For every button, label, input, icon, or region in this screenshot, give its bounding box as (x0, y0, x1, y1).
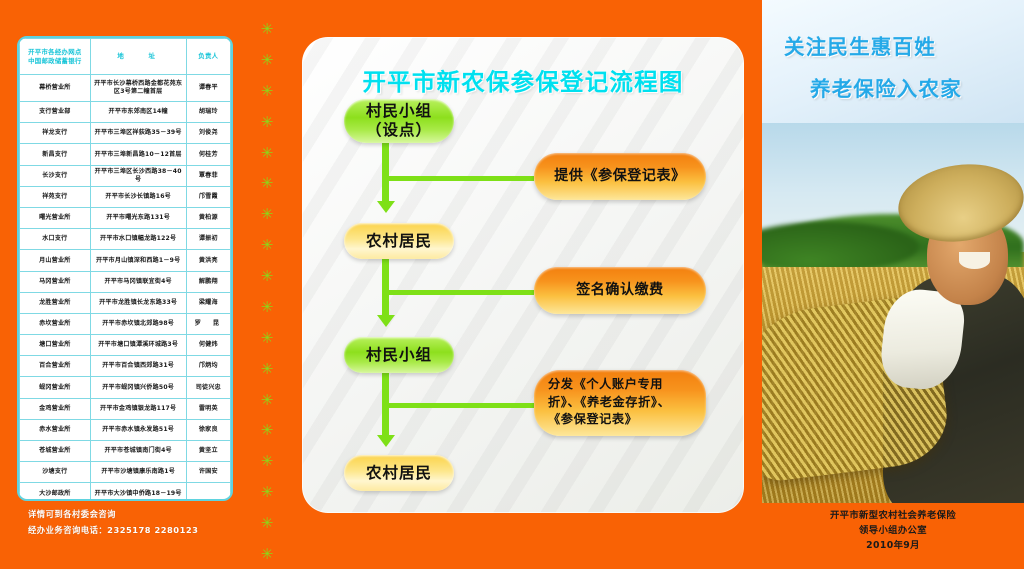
table-row: 水口支行开平市水口镇幅龙路122号谭振初 (20, 229, 231, 250)
right-footer-line3: 2010年9月 (762, 538, 1024, 553)
asterisk-icon: ✳ (261, 269, 274, 284)
table-row: 祥苑支行开平市长沙长镇路16号邝雪霞 (20, 186, 231, 207)
cell-address: 开平市大沙镇中侨路18－19号 (90, 483, 186, 501)
cell-person: 谭春平 (186, 75, 230, 102)
cell-address: 开平市蚬冈镇兴侨路50号 (90, 377, 186, 398)
table-row: 幕桥营业所开平市长沙幕桥西路金都花苑东区3号第二幢首层谭春平 (20, 75, 231, 102)
cell-person: 司徒兴忠 (186, 377, 230, 398)
headline-line1: 关注民生惠百姓 (784, 30, 936, 60)
cell-address: 开平市长沙幕桥西路金都花苑东区3号第二幢首层 (90, 75, 186, 102)
flow-node-rural-residents-2[interactable]: 农村居民 (344, 455, 454, 491)
col-header-branch-line2: 中国邮政储蓄银行 (21, 57, 89, 65)
cell-branch: 曙光营业所 (20, 207, 91, 228)
left-footer-line1: 详情可到各村委会咨询 (28, 506, 198, 522)
asterisk-divider: ✳✳✳✳✳✳✳✳✳✳✳✳✳✳✳✳✳✳ (252, 22, 282, 562)
cell-person: 罗 昆 (186, 313, 230, 334)
cell-branch: 祥苑支行 (20, 186, 91, 207)
table-row: 曙光营业所开平市曙光东路131号黄柏源 (20, 207, 231, 228)
asterisk-icon: ✳ (261, 331, 274, 346)
left-footer: 详情可到各村委会咨询 经办业务咨询电话：2325178 2280123 (28, 506, 198, 538)
flow-callout-3-line2: 折》、《养老金存折》、 (548, 394, 692, 412)
cell-address: 开平市马冈镇联宜街4号 (90, 271, 186, 292)
cell-branch: 沙塘支行 (20, 462, 91, 483)
table-row: 百合营业所开平市百合镇西郊路31号邝炳均 (20, 356, 231, 377)
cell-person: 何桂芳 (186, 144, 230, 165)
cell-address: 开平市三埠区长沙西路38－40号 (90, 165, 186, 186)
cell-person: 刘俊尧 (186, 123, 230, 144)
cell-person: 梁耀海 (186, 292, 230, 313)
asterisk-icon: ✳ (261, 146, 274, 161)
cell-person: 黄洪亮 (186, 250, 230, 271)
cell-address: 开平市三埠新昌路10－12首层 (90, 144, 186, 165)
cell-person: 何健炜 (186, 335, 230, 356)
cell-branch: 金鸡营业所 (20, 398, 91, 419)
cell-branch: 百合营业所 (20, 356, 91, 377)
asterisk-icon: ✳ (261, 362, 274, 377)
flow-node-2-label: 农村居民 (366, 232, 432, 251)
cell-branch: 赤坎营业所 (20, 313, 91, 334)
right-footer: 开平市新型农村社会养老保险 领导小组办公室 2010年9月 (762, 508, 1024, 553)
cell-branch: 祥龙支行 (20, 123, 91, 144)
left-panel: 开平市各经办网点 中国邮政储蓄银行 地 址 负责人 幕桥营业所开平市长沙幕桥西路… (0, 0, 252, 569)
cell-branch: 蚬冈营业所 (20, 377, 91, 398)
table-row: 塘口营业所开平市塘口镇潭溪环城路3号何健炜 (20, 335, 231, 356)
branch-table-body: 幕桥营业所开平市长沙幕桥西路金都花苑东区3号第二幢首层谭春平支行营业部开平市东郊… (20, 75, 231, 502)
asterisk-icon: ✳ (261, 207, 274, 222)
cell-branch: 赤水营业所 (20, 419, 91, 440)
asterisk-icon: ✳ (261, 115, 274, 130)
flow-callout-3-line3: 《参保登记表》 (548, 411, 692, 429)
table-row: 新昌支行开平市三埠新昌路10－12首层何桂芳 (20, 144, 231, 165)
col-header-person: 负责人 (186, 39, 230, 75)
connector-n3-n4-arrow (377, 435, 395, 447)
asterisk-icon: ✳ (261, 176, 274, 191)
flow-node-village-group-setpoint[interactable]: 村民小组 （设点） (344, 99, 454, 143)
cell-address: 开平市塘口镇潭溪环城路3号 (90, 335, 186, 356)
cell-person: 胡瑞玲 (186, 102, 230, 123)
poster-canvas: 开平市各经办网点 中国邮政储蓄银行 地 址 负责人 幕桥营业所开平市长沙幕桥西路… (0, 0, 1024, 569)
table-row: 龙胜营业所开平市龙胜镇长龙东路33号梁耀海 (20, 292, 231, 313)
cell-person: 徐家良 (186, 419, 230, 440)
branch-table: 开平市各经办网点 中国邮政储蓄银行 地 址 负责人 幕桥营业所开平市长沙幕桥西路… (19, 38, 231, 501)
table-row: 赤水营业所开平市赤水镇永发路51号徐家良 (20, 419, 231, 440)
flow-callout-sign-confirm-payment[interactable]: 签名确认缴费 (534, 267, 706, 314)
flow-node-4-label: 农村居民 (366, 464, 432, 483)
right-panel: 关注民生惠百姓 养老保险入农家 开平市新型农村社会养老保险 领导小组办公室 20… (762, 0, 1024, 569)
asterisk-icon: ✳ (261, 393, 274, 408)
col-header-address: 地 址 (90, 39, 186, 75)
cell-branch: 长沙支行 (20, 165, 91, 186)
connector-c1-branch (386, 176, 534, 181)
branch-table-card: 开平市各经办网点 中国邮政储蓄银行 地 址 负责人 幕桥营业所开平市长沙幕桥西路… (17, 36, 233, 501)
table-row: 大沙邮政所开平市大沙镇中侨路18－19号 (20, 483, 231, 501)
cell-branch: 苍城营业所 (20, 441, 91, 462)
cell-person: 许国安 (186, 462, 230, 483)
asterisk-icon: ✳ (261, 485, 274, 500)
connector-n3-n4-line (382, 363, 389, 437)
cell-branch: 龙胜营业所 (20, 292, 91, 313)
cell-person: 解鹏翔 (186, 271, 230, 292)
cell-person (186, 483, 230, 501)
asterisk-icon: ✳ (261, 238, 274, 253)
connector-c3-branch (386, 403, 534, 408)
asterisk-icon: ✳ (261, 22, 274, 37)
asterisk-icon: ✳ (261, 454, 274, 469)
cell-address: 开平市水口镇幅龙路122号 (90, 229, 186, 250)
cell-person: 黄坚立 (186, 441, 230, 462)
cell-address: 开平市赤水镇永发路51号 (90, 419, 186, 440)
cell-person: 邝雪霞 (186, 186, 230, 207)
flow-node-3-label: 村民小组 (366, 346, 432, 365)
cell-address: 开平市龙胜镇长龙东路33号 (90, 292, 186, 313)
cell-address: 开平市长沙长镇路16号 (90, 186, 186, 207)
col-header-branch-line1: 开平市各经办网点 (21, 48, 89, 56)
cell-address: 开平市金鸡镇银龙路117号 (90, 398, 186, 419)
cell-branch: 幕桥营业所 (20, 75, 91, 102)
cell-address: 开平市百合镇西郊路31号 (90, 356, 186, 377)
right-footer-line1: 开平市新型农村社会养老保险 (762, 508, 1024, 523)
asterisk-icon: ✳ (261, 423, 274, 438)
cell-address: 开平市赤坎镇北郊路98号 (90, 313, 186, 334)
flow-node-village-group-2[interactable]: 村民小组 (344, 337, 454, 373)
right-footer-line2: 领导小组办公室 (762, 523, 1024, 538)
connector-c2-branch (386, 290, 534, 295)
cell-branch: 塘口营业所 (20, 335, 91, 356)
connector-n1-n2-arrow (377, 201, 395, 213)
cell-branch: 月山营业所 (20, 250, 91, 271)
flowchart-title: 开平市新农保参保登记流程图 (302, 63, 744, 97)
flow-node-1-line2: （设点） (366, 121, 432, 140)
flow-node-rural-residents-1[interactable]: 农村居民 (344, 223, 454, 259)
cell-branch: 大沙邮政所 (20, 483, 91, 501)
branch-table-head: 开平市各经办网点 中国邮政储蓄银行 地 址 负责人 (20, 39, 231, 75)
table-row: 长沙支行开平市三埠区长沙西路38－40号覃春菲 (20, 165, 231, 186)
table-header-row: 开平市各经办网点 中国邮政储蓄银行 地 址 负责人 (20, 39, 231, 75)
asterisk-icon: ✳ (261, 84, 274, 99)
cell-address: 开平市沙塘镇康乐南路1号 (90, 462, 186, 483)
cell-address: 开平市东郊南区14幢 (90, 102, 186, 123)
asterisk-icon: ✳ (261, 547, 274, 562)
cell-person: 邝炳均 (186, 356, 230, 377)
table-row: 蚬冈营业所开平市蚬冈镇兴侨路50号司徒兴忠 (20, 377, 231, 398)
cell-branch: 水口支行 (20, 229, 91, 250)
table-row: 沙塘支行开平市沙塘镇康乐南路1号许国安 (20, 462, 231, 483)
connector-n2-n3-arrow (377, 315, 395, 327)
flow-node-1-line1: 村民小组 (366, 102, 432, 121)
left-footer-line2: 经办业务咨询电话：2325178 2280123 (28, 522, 198, 538)
table-row: 马冈营业所开平市马冈镇联宜街4号解鹏翔 (20, 271, 231, 292)
table-row: 金鸡营业所开平市金鸡镇银龙路117号雷明英 (20, 398, 231, 419)
cell-branch: 马冈营业所 (20, 271, 91, 292)
flow-callout-2-label: 签名确认缴费 (576, 282, 664, 299)
table-row: 支行营业部开平市东郊南区14幢胡瑞玲 (20, 102, 231, 123)
table-row: 月山营业所开平市月山镇深和西路1－9号黄洪亮 (20, 250, 231, 271)
cell-address: 开平市三埠区祥荻路35－39号 (90, 123, 186, 144)
asterisk-icon: ✳ (261, 516, 274, 531)
flow-callout-distribute-booklets[interactable]: 分发《个人账户专用 折》、《养老金存折》、 《参保登记表》 (534, 370, 706, 436)
flowchart-card: 开平市新农保参保登记流程图 村民小组 （设点） 农村居民 村民小组 农村居民 (302, 37, 744, 513)
col-header-branch: 开平市各经办网点 中国邮政储蓄银行 (20, 39, 91, 75)
connector-n1-n2-line (382, 141, 389, 203)
flow-callout-1-label: 提供《参保登记表》 (554, 168, 685, 185)
table-row: 祥龙支行开平市三埠区祥荻路35－39号刘俊尧 (20, 123, 231, 144)
farmer-photo (762, 123, 1024, 503)
flow-callout-provide-form[interactable]: 提供《参保登记表》 (534, 153, 706, 200)
cell-person: 雷明英 (186, 398, 230, 419)
headline-line2: 养老保险入农家 (810, 72, 962, 102)
cell-branch: 新昌支行 (20, 144, 91, 165)
connector-n2-n3-line (382, 249, 389, 317)
cell-address: 开平市苍城镇南门街4号 (90, 441, 186, 462)
table-row: 赤坎营业所开平市赤坎镇北郊路98号罗 昆 (20, 313, 231, 334)
cell-person: 黄柏源 (186, 207, 230, 228)
right-headline-block: 关注民生惠百姓 养老保险入农家 (762, 0, 1024, 123)
cell-person: 覃春菲 (186, 165, 230, 186)
flow-callout-3-line1: 分发《个人账户专用 (548, 376, 692, 394)
asterisk-icon: ✳ (261, 300, 274, 315)
cell-person: 谭振初 (186, 229, 230, 250)
table-row: 苍城营业所开平市苍城镇南门街4号黄坚立 (20, 441, 231, 462)
cell-address: 开平市曙光东路131号 (90, 207, 186, 228)
cell-branch: 支行营业部 (20, 102, 91, 123)
cell-address: 开平市月山镇深和西路1－9号 (90, 250, 186, 271)
asterisk-icon: ✳ (261, 53, 274, 68)
